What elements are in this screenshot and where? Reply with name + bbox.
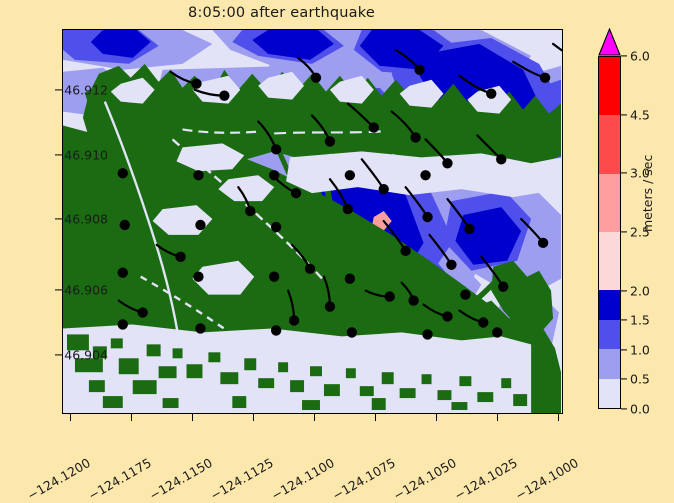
colorbar-band-0.0-0.5	[599, 379, 620, 408]
y-tick-mark	[55, 89, 62, 90]
y-axis-tick-label: 46.910	[64, 148, 108, 163]
colorbar-band-4.5-6.0	[599, 57, 620, 115]
colorbar-band-2.0-2.5	[599, 232, 620, 290]
x-tick-mark	[436, 414, 437, 421]
x-tick-mark	[558, 414, 559, 421]
y-tick-mark	[55, 218, 62, 219]
y-axis-tick-label: 46.912	[64, 83, 108, 98]
figure-canvas: 8:05:00 after earthquake	[0, 0, 674, 463]
colorbar-tick-mark	[621, 231, 627, 232]
colorbar-tick-label: 2.0	[630, 284, 650, 299]
y-tick-mark	[55, 354, 62, 355]
colorbar[interactable]	[598, 56, 621, 409]
colorbar-tick-mark	[621, 172, 627, 173]
x-tick-mark	[253, 414, 254, 421]
colorbar-tick-mark	[621, 55, 627, 56]
colorbar-tick-label: 1.5	[630, 313, 650, 328]
colorbar-tick-mark	[621, 408, 627, 409]
x-tick-mark	[70, 414, 71, 421]
colorbar-axis-label: meters / sec	[640, 155, 655, 232]
colorbar-band-3.0-4.5	[599, 115, 620, 173]
page-title: 8:05:00 after earthquake	[0, 5, 563, 21]
colorbar-tick-mark	[621, 319, 627, 320]
colorbar-tick-label: 6.0	[630, 49, 650, 64]
x-tick-mark	[314, 414, 315, 421]
colorbar-tick-label: 0.5	[630, 372, 650, 387]
x-tick-mark	[192, 414, 193, 421]
colorbar-band-1.0-1.5	[599, 320, 620, 349]
x-axis-tick-label: −124.1000	[573, 420, 641, 468]
y-axis-tick-label: 46.904	[64, 348, 108, 363]
y-tick-mark	[55, 154, 62, 155]
y-axis-tick-label: 46.906	[64, 283, 108, 298]
colorbar-band-0.5-1.0	[599, 349, 620, 378]
map-plot-area[interactable]	[62, 29, 563, 414]
colorbar-tick-label: 0.0	[630, 402, 650, 417]
x-tick-mark	[375, 414, 376, 421]
colorbar-tick-mark	[621, 378, 627, 379]
colorbar-band-1.5-2.0	[599, 290, 620, 319]
colorbar-tick-label: 4.5	[630, 108, 650, 123]
y-tick-mark	[55, 289, 62, 290]
colorbar-tick-mark	[621, 349, 627, 350]
x-tick-mark	[131, 414, 132, 421]
x-tick-mark	[497, 414, 498, 421]
colorbar-tick-label: 1.0	[630, 343, 650, 358]
colorbar-over-arrow	[598, 28, 621, 56]
colorbar-tick-mark	[621, 290, 627, 291]
colorbar-tick-mark	[621, 114, 627, 115]
colorbar-band-2.5-3.0	[599, 174, 620, 232]
y-axis-tick-label: 46.908	[64, 212, 108, 227]
